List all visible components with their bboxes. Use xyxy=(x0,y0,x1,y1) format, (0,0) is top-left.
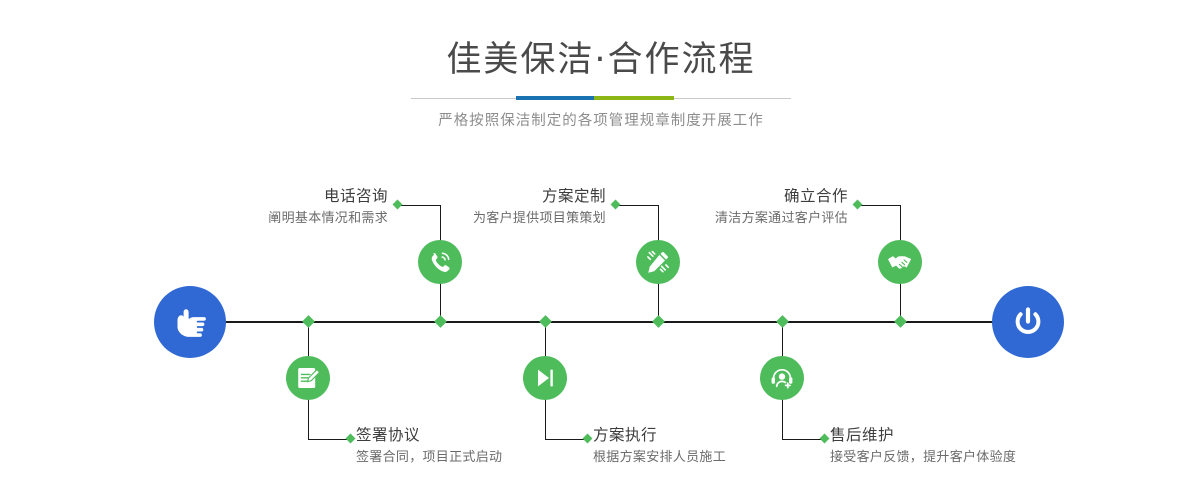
phone-call-icon xyxy=(427,249,453,275)
timeline-start-node xyxy=(154,286,226,358)
power-icon xyxy=(1008,302,1048,342)
step-4-title: 方案执行 xyxy=(593,425,843,446)
timeline-marker-step-5 xyxy=(894,315,907,328)
label-marker-step-2 xyxy=(346,434,356,444)
step-6-title: 售后维护 xyxy=(830,425,1130,446)
step-5-title: 确立合作 xyxy=(630,186,848,207)
connector-horizontal-step-2 xyxy=(308,439,350,441)
step-5-desc: 清洁方案通过客户评估 xyxy=(630,207,848,229)
timeline-marker-step-2 xyxy=(302,315,315,328)
connector-horizontal-step-5 xyxy=(858,205,900,207)
timeline-marker-step-3 xyxy=(652,315,665,328)
step-5-label: 确立合作 清洁方案通过客户评估 xyxy=(630,186,848,229)
timeline-marker-step-4 xyxy=(539,315,552,328)
label-marker-step-3 xyxy=(611,200,621,210)
timeline-marker-step-6 xyxy=(776,315,789,328)
document-edit-icon xyxy=(295,365,321,391)
step-3-label: 方案定制 为客户提供项目策策划 xyxy=(390,186,606,229)
connector-horizontal-step-1 xyxy=(398,205,440,207)
step-4-desc: 根据方案安排人员施工 xyxy=(593,446,843,468)
page-subtitle: 严格按照保洁制定的各项管理规章制度开展工作 xyxy=(0,100,1202,131)
step-2-title: 签署协议 xyxy=(356,425,616,446)
step-2-label: 签署协议 签署合同，项目正式启动 xyxy=(356,425,616,468)
connector-horizontal-step-6 xyxy=(782,439,824,441)
divider-segment-blue xyxy=(516,96,594,100)
connector-horizontal-step-4 xyxy=(545,439,587,441)
step-2-icon-bubble[interactable] xyxy=(286,356,330,400)
timeline-marker-step-1 xyxy=(434,315,447,328)
title-divider xyxy=(411,96,791,100)
customer-service-icon xyxy=(769,365,795,391)
step-6-icon-bubble[interactable] xyxy=(760,356,804,400)
pencil-ruler-icon xyxy=(645,249,671,275)
step-6-desc: 接受客户反馈，提升客户体验度 xyxy=(830,446,1130,468)
play-next-icon xyxy=(532,365,558,391)
step-2-desc: 签署合同，项目正式启动 xyxy=(356,446,616,468)
divider-segment-green xyxy=(594,96,674,100)
page-title: 佳美保洁·合作流程 xyxy=(0,0,1202,82)
process-flow-infographic: 佳美保洁·合作流程 严格按照保洁制定的各项管理规章制度开展工作 xyxy=(0,0,1202,502)
label-marker-step-5 xyxy=(853,200,863,210)
step-1-desc: 阐明基本情况和需求 xyxy=(170,207,388,229)
step-6-label: 售后维护 接受客户反馈，提升客户体验度 xyxy=(830,425,1130,468)
step-5-icon-bubble[interactable] xyxy=(878,240,922,284)
step-4-icon-bubble[interactable] xyxy=(523,356,567,400)
step-1-label: 电话咨询 阐明基本情况和需求 xyxy=(170,186,388,229)
step-1-title: 电话咨询 xyxy=(170,186,388,207)
step-1-icon-bubble[interactable] xyxy=(418,240,462,284)
step-3-desc: 为客户提供项目策策划 xyxy=(390,207,606,229)
connector-horizontal-step-3 xyxy=(616,205,658,207)
handshake-icon xyxy=(887,249,913,275)
step-4-label: 方案执行 根据方案安排人员施工 xyxy=(593,425,843,468)
step-3-icon-bubble[interactable] xyxy=(636,240,680,284)
timeline-end-node xyxy=(992,286,1064,358)
header: 佳美保洁·合作流程 严格按照保洁制定的各项管理规章制度开展工作 xyxy=(0,0,1202,131)
pointing-hand-icon xyxy=(170,302,210,342)
